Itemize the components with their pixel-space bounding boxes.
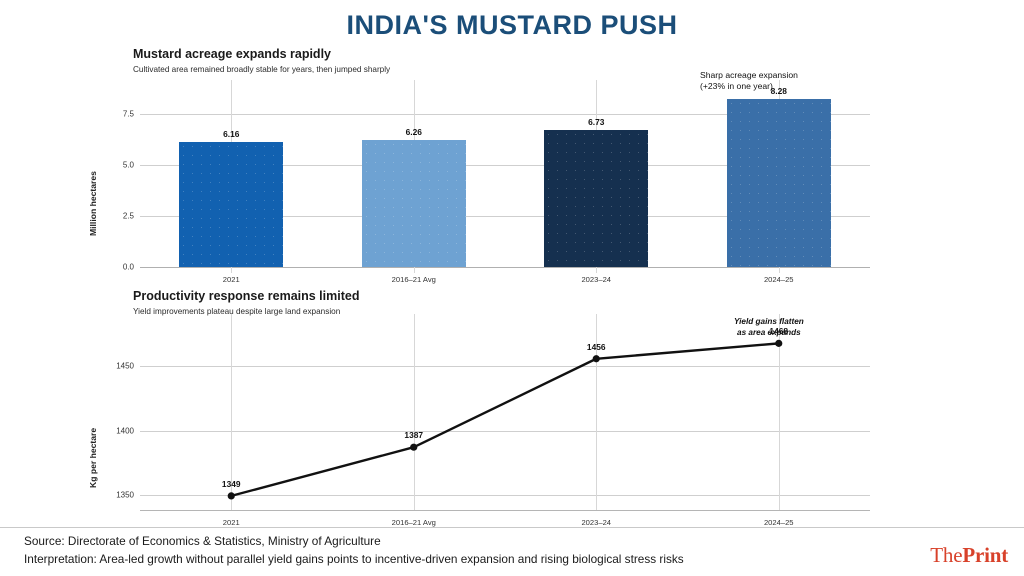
bar-annotation-line-2: (+23% in one year) xyxy=(700,81,798,92)
source-line: Source: Directorate of Economics & Stati… xyxy=(24,532,894,550)
line-x-tick-label: 2024–25 xyxy=(764,518,794,527)
yield-data-point[interactable] xyxy=(775,340,782,347)
bar-2[interactable]: 6.26 xyxy=(362,140,466,267)
bottom-panel-subtitle: Yield improvements plateau despite large… xyxy=(133,307,359,316)
bar-texture xyxy=(727,99,831,267)
line-annotation: Yield gains flatten as area expands xyxy=(734,317,804,338)
line-y-tick-label: 1450 xyxy=(116,362,134,371)
bar-x-tick-label: 2016–21 Avg xyxy=(392,275,436,284)
line-value-label: 1349 xyxy=(222,479,241,489)
bar-y-axis-title: Million hectares xyxy=(88,116,98,236)
bar-4[interactable]: 8.28 xyxy=(727,99,831,267)
footer-divider xyxy=(0,527,1024,528)
yield-line-chart: Kg per hectare 13501400145020212016–21 A… xyxy=(140,328,870,510)
footer-text: Source: Directorate of Economics & Stati… xyxy=(24,532,894,569)
page-title: INDIA'S MUSTARD PUSH xyxy=(0,10,1024,41)
yield-data-point[interactable] xyxy=(593,355,600,362)
line-x-tick-label: 2021 xyxy=(223,518,240,527)
line-value-label: 1387 xyxy=(404,430,423,440)
line-value-label: 1456 xyxy=(587,342,606,352)
bar-y-tick-label: 0.0 xyxy=(123,263,134,272)
logo-the: The xyxy=(930,543,962,567)
acreage-bar-chart: Million hectares 0.02.55.07.56.1620216.2… xyxy=(140,86,870,267)
yield-line-path xyxy=(231,343,779,496)
line-y-tick-label: 1400 xyxy=(116,426,134,435)
line-x-tick-label: 2016–21 Avg xyxy=(392,518,436,527)
line-plot-area: 13501400145020212016–21 Avg2023–242024–2… xyxy=(140,328,870,510)
line-annotation-line-1: Yield gains flatten xyxy=(734,317,804,328)
top-panel-header: Mustard acreage expands rapidly Cultivat… xyxy=(133,48,390,74)
bottom-panel-title: Productivity response remains limited xyxy=(133,290,359,304)
bar-y-tick-label: 7.5 xyxy=(123,110,134,119)
yield-series xyxy=(140,328,870,510)
bar-annotation-line-1: Sharp acreage expansion xyxy=(700,70,798,81)
bar-1[interactable]: 6.16 xyxy=(179,142,283,267)
bar-x-tick-label: 2021 xyxy=(223,275,240,284)
bar-plot-area: 0.02.55.07.56.1620216.262016–21 Avg6.732… xyxy=(140,86,870,267)
yield-data-point[interactable] xyxy=(410,444,417,451)
bar-value-label: 6.73 xyxy=(588,117,604,127)
bar-annotation: Sharp acreage expansion (+23% in one yea… xyxy=(700,70,798,92)
top-panel-title: Mustard acreage expands rapidly xyxy=(133,48,390,62)
interpretation-line: Interpretation: Area-led growth without … xyxy=(24,550,894,568)
bar-x-tick-label: 2023–24 xyxy=(581,275,611,284)
bar-value-label: 6.26 xyxy=(406,127,422,137)
bottom-panel-header: Productivity response remains limited Yi… xyxy=(133,290,359,316)
bar-3[interactable]: 6.73 xyxy=(544,130,648,267)
logo-print: Print xyxy=(962,543,1008,567)
line-annotation-line-2: as area expands xyxy=(734,328,804,339)
bar-gridline xyxy=(140,267,870,268)
bar-y-tick-label: 5.0 xyxy=(123,161,134,170)
bar-value-label: 6.16 xyxy=(223,129,239,139)
yield-data-point[interactable] xyxy=(228,492,235,499)
bar-texture xyxy=(179,142,283,267)
line-y-tick-label: 1350 xyxy=(116,490,134,499)
bar-x-tick-label: 2024–25 xyxy=(764,275,794,284)
line-baseline xyxy=(140,510,870,511)
bar-texture xyxy=(544,130,648,267)
bar-texture xyxy=(362,140,466,267)
infographic-page: INDIA'S MUSTARD PUSH Mustard acreage exp… xyxy=(0,0,1024,576)
bar-y-tick-label: 2.5 xyxy=(123,212,134,221)
line-x-tick-label: 2023–24 xyxy=(581,518,611,527)
theprint-logo: ThePrint xyxy=(930,543,1008,568)
top-panel-subtitle: Cultivated area remained broadly stable … xyxy=(133,65,390,74)
line-y-axis-title: Kg per hectare xyxy=(88,358,98,488)
